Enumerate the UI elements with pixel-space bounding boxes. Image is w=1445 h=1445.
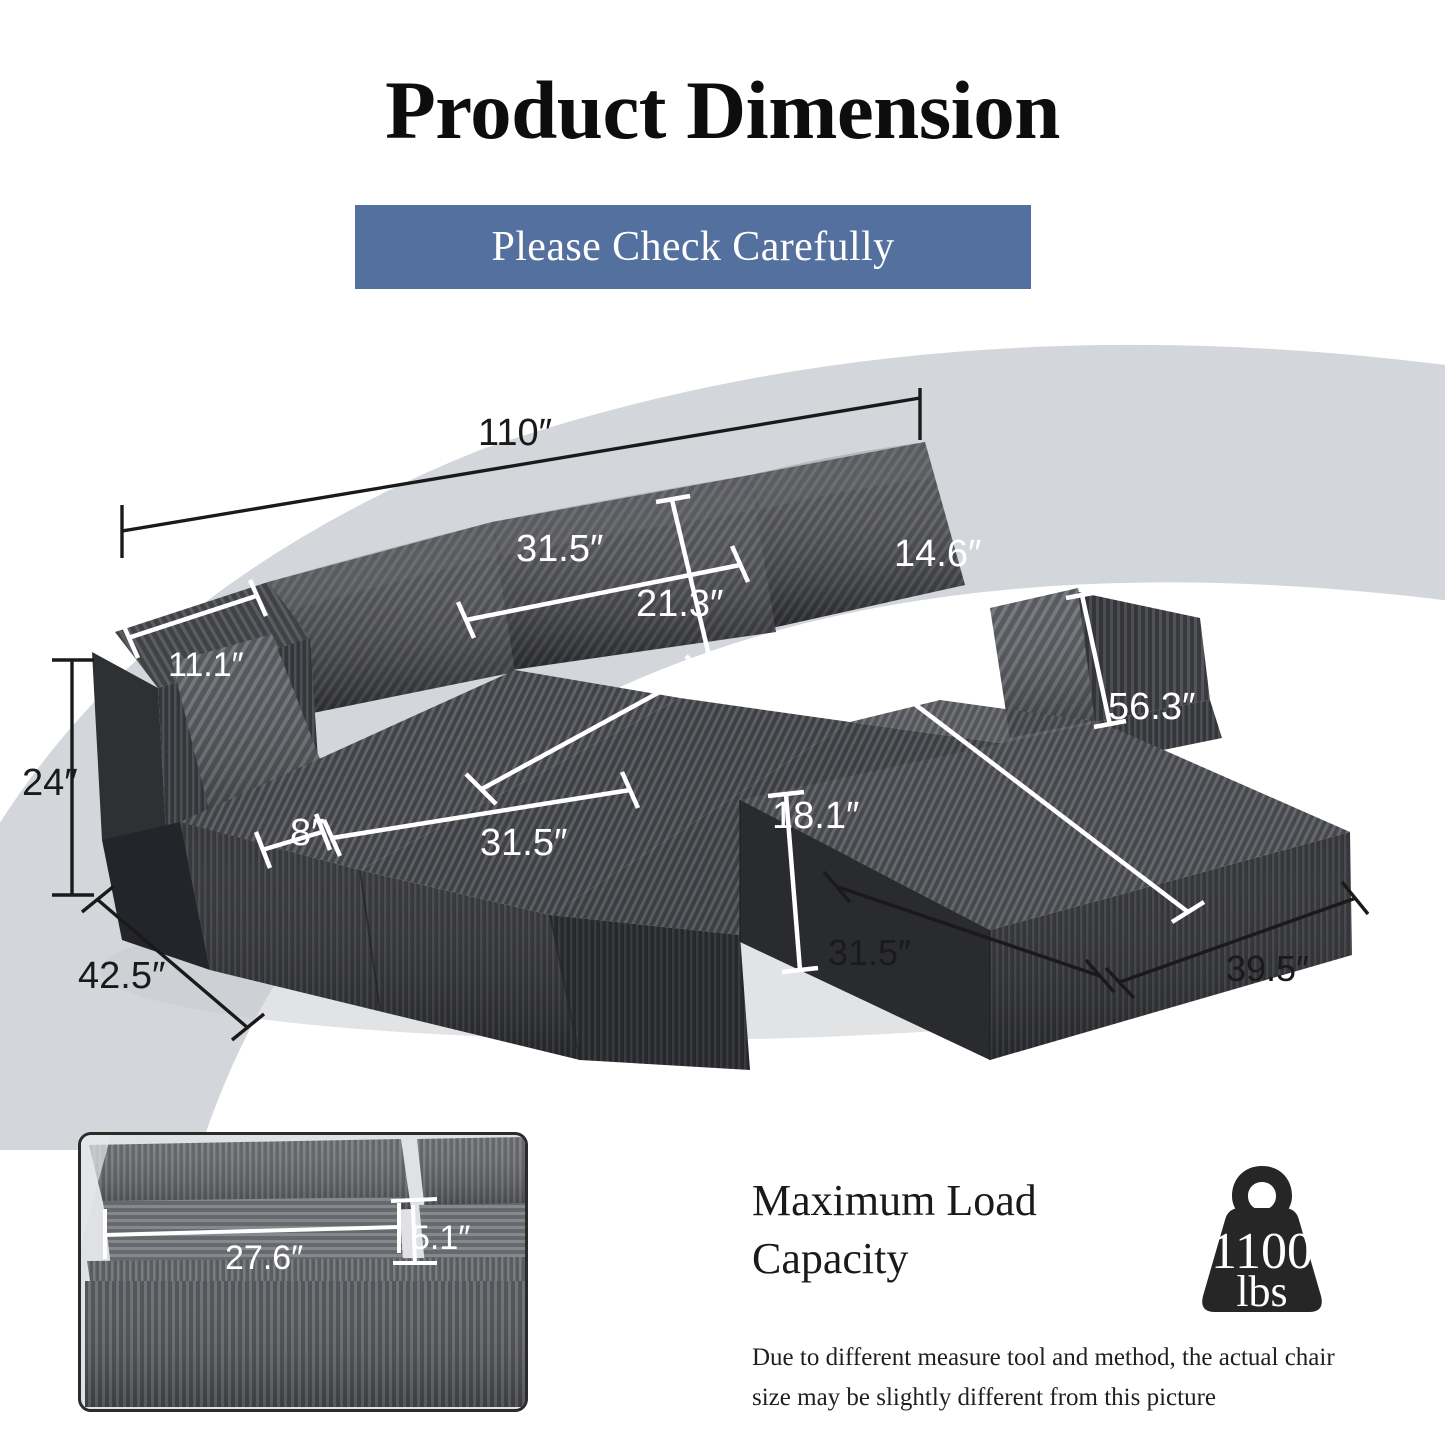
weight-icon: 1100 lbs (1188, 1164, 1336, 1316)
outer-dimension-lines (0, 0, 1445, 1100)
max-load-title: Maximum Load Capacity (752, 1172, 1132, 1288)
max-load-title-line2: Capacity (752, 1230, 1132, 1288)
seat-cushion-detail-panel: 27.6″ 5.1″ (78, 1132, 528, 1412)
disclaimer-line1: Due to different measure tool and method… (752, 1338, 1372, 1378)
disclaimer-line2: size may be slightly different from this… (752, 1378, 1372, 1418)
infographic-canvas: Product Dimension Please Check Carefully (0, 0, 1445, 1445)
disclaimer: Due to different measure tool and method… (752, 1338, 1372, 1418)
weight-unit-text: lbs (1236, 1267, 1287, 1316)
max-load-title-line1: Maximum Load (752, 1172, 1132, 1230)
